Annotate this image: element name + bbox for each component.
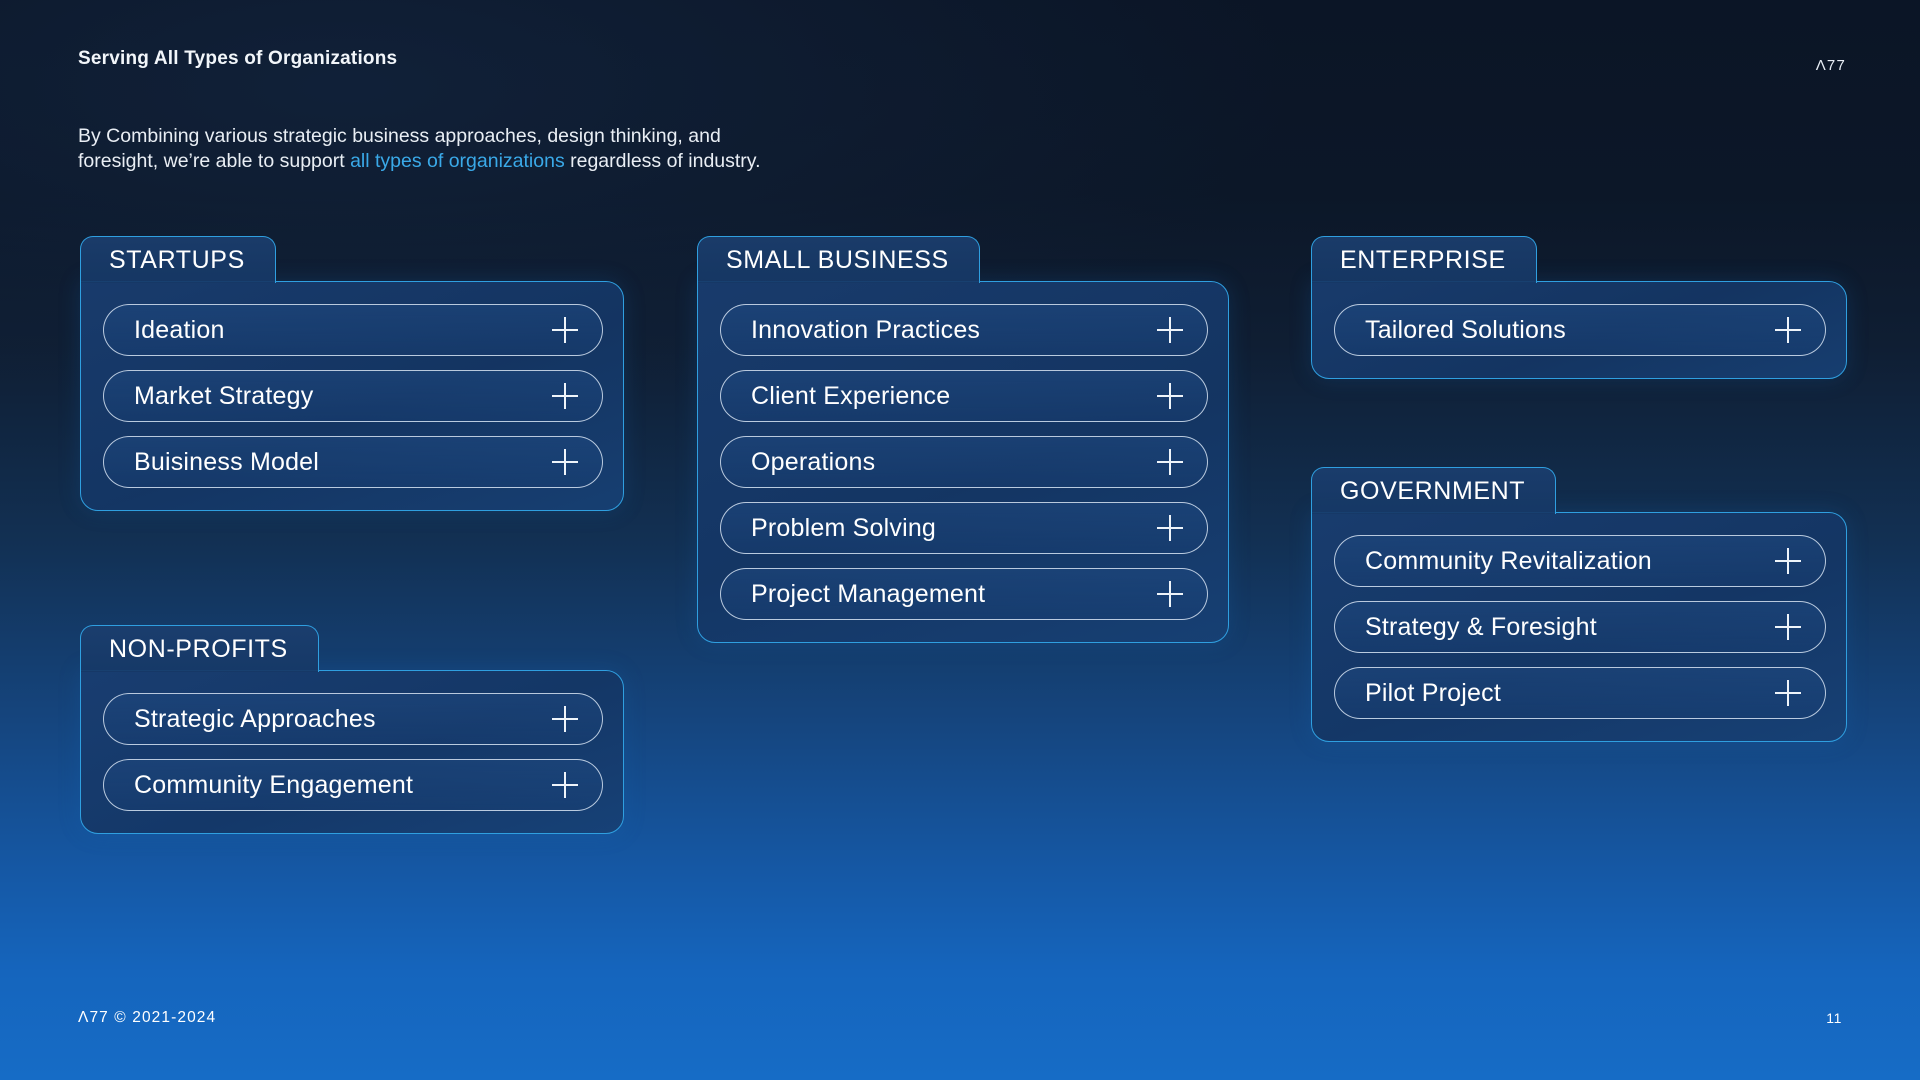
card-body-government: Community Revitalization Strategy & Fore…: [1311, 512, 1847, 742]
plus-icon[interactable]: [1775, 548, 1801, 574]
plus-icon[interactable]: [552, 449, 578, 475]
cards-board: STARTUPS Ideation Market Strategy Buisin…: [0, 0, 1920, 1080]
card-tab-nonprofits[interactable]: NON-PROFITS: [80, 625, 319, 672]
plus-icon[interactable]: [1157, 515, 1183, 541]
card-small-business: SMALL BUSINESS Innovation Practices Clie…: [697, 236, 1229, 643]
list-item[interactable]: Community Revitalization: [1334, 535, 1826, 587]
plus-icon[interactable]: [552, 383, 578, 409]
card-nonprofits: NON-PROFITS Strategic Approaches Communi…: [80, 625, 624, 834]
card-body-small-business: Innovation Practices Client Experience O…: [697, 281, 1229, 643]
plus-icon[interactable]: [1157, 581, 1183, 607]
card-tab-startups[interactable]: STARTUPS: [80, 236, 276, 283]
card-startups: STARTUPS Ideation Market Strategy Buisin…: [80, 236, 624, 511]
row-label: Tailored Solutions: [1365, 316, 1566, 345]
card-body-enterprise: Tailored Solutions: [1311, 281, 1847, 379]
list-item[interactable]: Strategy & Foresight: [1334, 601, 1826, 653]
list-item[interactable]: Innovation Practices: [720, 304, 1208, 356]
row-label: Problem Solving: [751, 514, 936, 543]
plus-icon[interactable]: [1775, 680, 1801, 706]
row-label: Client Experience: [751, 382, 950, 411]
card-tab-small-business[interactable]: SMALL BUSINESS: [697, 236, 980, 283]
plus-icon[interactable]: [552, 772, 578, 798]
row-label: Project Management: [751, 580, 985, 609]
list-item[interactable]: Market Strategy: [103, 370, 603, 422]
row-label: Community Engagement: [134, 771, 413, 800]
row-label: Community Revitalization: [1365, 547, 1652, 576]
footer-copyright: Λ77 © 2021-2024: [78, 1009, 216, 1027]
row-label: Strategic Approaches: [134, 705, 376, 734]
card-tab-enterprise[interactable]: ENTERPRISE: [1311, 236, 1537, 283]
row-label: Innovation Practices: [751, 316, 980, 345]
plus-icon[interactable]: [1157, 449, 1183, 475]
plus-icon[interactable]: [1157, 317, 1183, 343]
plus-icon[interactable]: [1775, 317, 1801, 343]
row-label: Pilot Project: [1365, 679, 1501, 708]
list-item[interactable]: Community Engagement: [103, 759, 603, 811]
list-item[interactable]: Ideation: [103, 304, 603, 356]
card-enterprise: ENTERPRISE Tailored Solutions: [1311, 236, 1847, 379]
list-item[interactable]: Operations: [720, 436, 1208, 488]
list-item[interactable]: Buisiness Model: [103, 436, 603, 488]
list-item[interactable]: Tailored Solutions: [1334, 304, 1826, 356]
list-item[interactable]: Pilot Project: [1334, 667, 1826, 719]
row-label: Operations: [751, 448, 875, 477]
plus-icon[interactable]: [1157, 383, 1183, 409]
list-item[interactable]: Project Management: [720, 568, 1208, 620]
card-body-nonprofits: Strategic Approaches Community Engagemen…: [80, 670, 624, 834]
plus-icon[interactable]: [552, 706, 578, 732]
row-label: Market Strategy: [134, 382, 313, 411]
row-label: Ideation: [134, 316, 225, 345]
plus-icon[interactable]: [552, 317, 578, 343]
card-body-startups: Ideation Market Strategy Buisiness Model: [80, 281, 624, 511]
list-item[interactable]: Client Experience: [720, 370, 1208, 422]
plus-icon[interactable]: [1775, 614, 1801, 640]
card-tab-government[interactable]: GOVERNMENT: [1311, 467, 1556, 514]
row-label: Buisiness Model: [134, 448, 319, 477]
page-number: 11: [1826, 1010, 1842, 1026]
list-item[interactable]: Strategic Approaches: [103, 693, 603, 745]
row-label: Strategy & Foresight: [1365, 613, 1597, 642]
card-government: GOVERNMENT Community Revitalization Stra…: [1311, 467, 1847, 742]
list-item[interactable]: Problem Solving: [720, 502, 1208, 554]
